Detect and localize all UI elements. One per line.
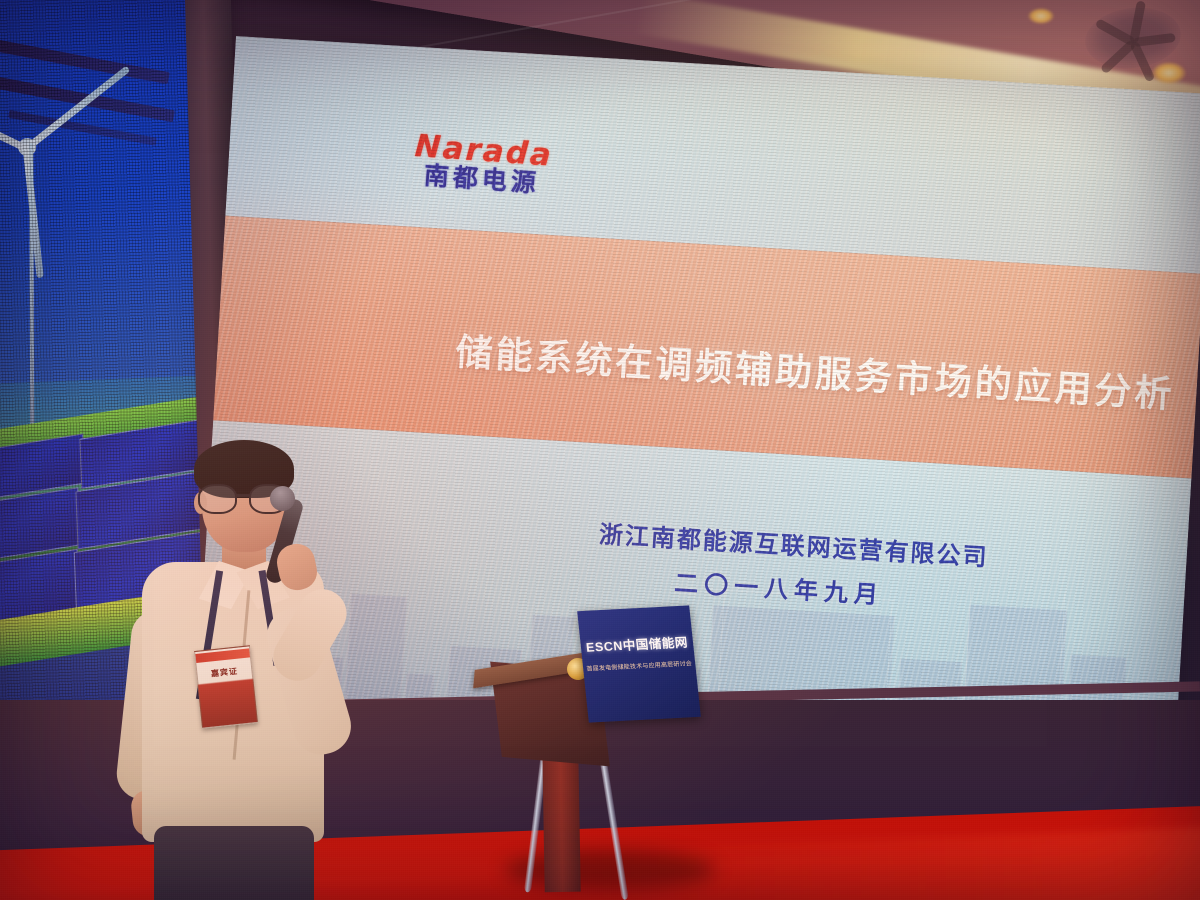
- podium-sign-logo: ESCN中国储能网: [580, 631, 694, 656]
- speaker-person: 嘉宾证: [90, 440, 380, 900]
- conference-photo-scene: Narada 南都电源 储能系统在调频辅助服务市场的应用分析 浙江南都能源互联网…: [0, 0, 1200, 900]
- spot-lamp-icon: [1152, 62, 1186, 84]
- spot-lamp-icon: [1028, 8, 1054, 24]
- narada-logo: Narada 南都电源: [412, 131, 554, 198]
- podium: ESCN中国储能网 首届发电侧储能技术与应用高层研讨会: [455, 600, 755, 900]
- podium-sign: ESCN中国储能网 首届发电侧储能技术与应用高层研讨会: [577, 605, 701, 722]
- speaker-trousers: [154, 826, 314, 900]
- badge-label: 嘉宾证: [197, 664, 252, 681]
- podium-sign-subtitle: 首届发电侧储能技术与应用高层研讨会: [586, 661, 693, 674]
- speaker-badge: 嘉宾证: [194, 645, 258, 728]
